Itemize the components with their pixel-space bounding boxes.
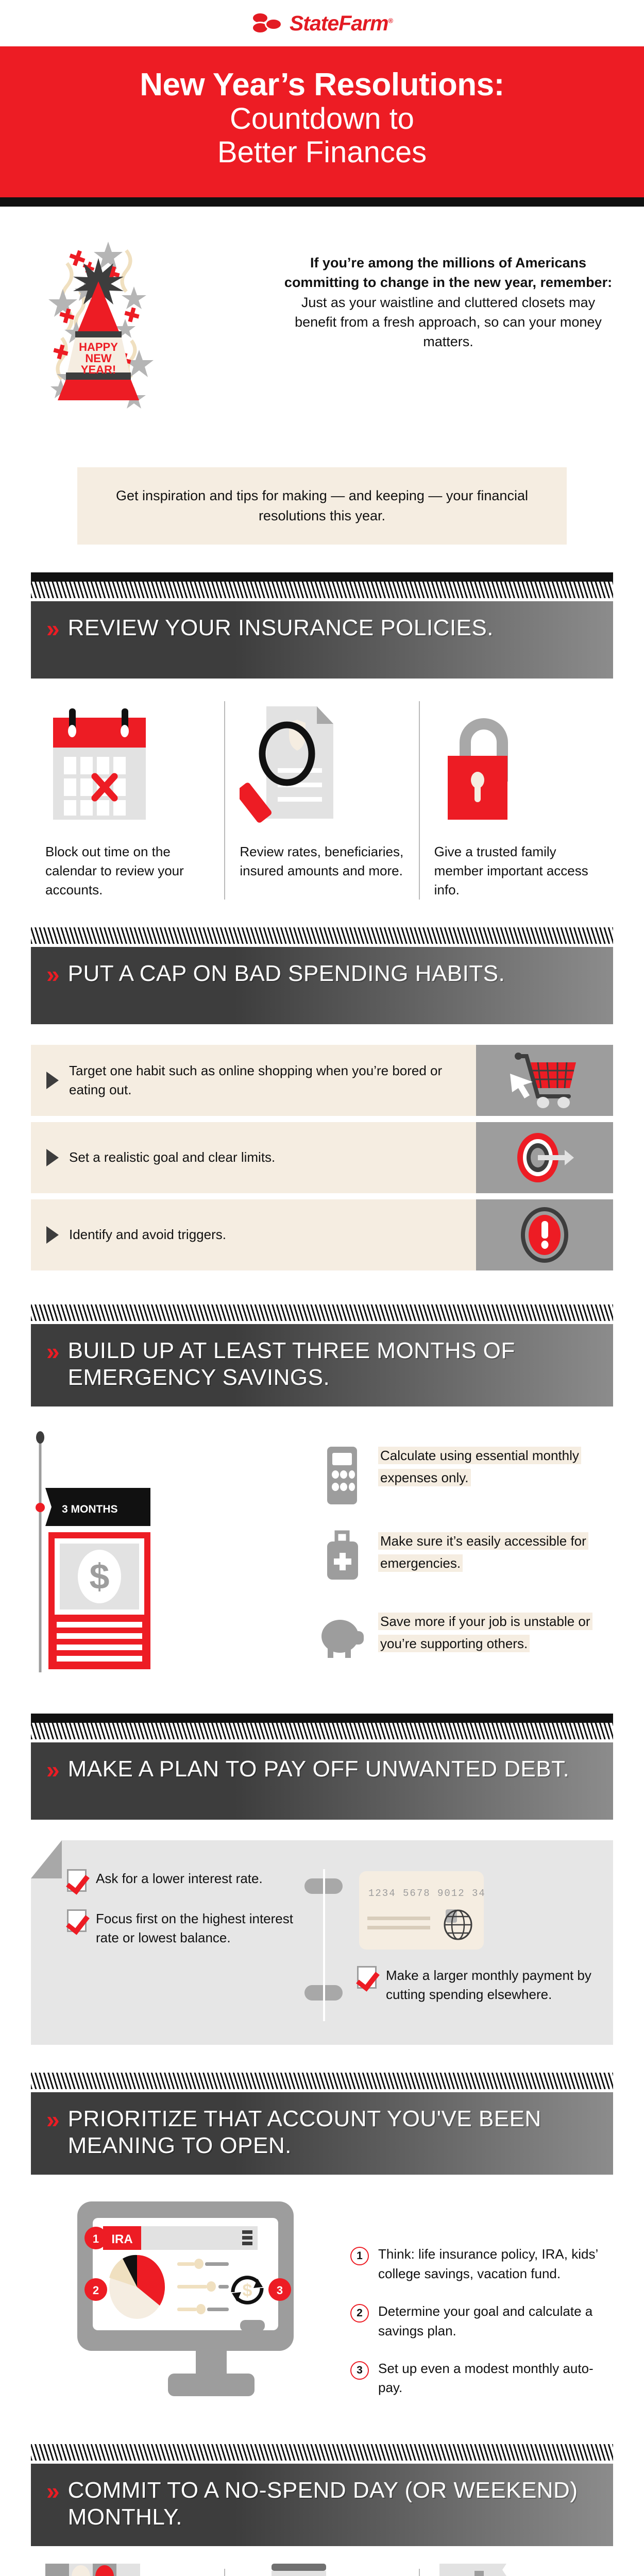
section-title: BUILD UP AT LEAST THREE MONTHS OF EMERGE…	[68, 1337, 598, 1391]
checkerboard-icon	[45, 2569, 164, 2576]
section-header-emergency-savings: » BUILD UP AT LEAST THREE MONTHS OF EMER…	[31, 1324, 613, 1406]
hatch-divider	[31, 582, 613, 598]
magnifier-doc-icon	[240, 701, 348, 825]
section-review-insurance: » REVIEW YOUR INSURANCE POLICIES.	[0, 572, 644, 679]
chevron-icon: »	[46, 2106, 57, 2131]
section-emergency-savings: » BUILD UP AT LEAST THREE MONTHS OF EMER…	[0, 1304, 644, 1406]
column-crafts-projects: Make time for crafts, organization or ho…	[419, 2569, 613, 2576]
timeline-label: 3 MONTHS	[62, 1503, 118, 1515]
emergency-savings-body: 3 MONTHS $	[0, 1406, 644, 1686]
checkbox-checked-icon[interactable]	[67, 1869, 87, 1892]
debt-checklist-item: Focus first on the highest interest rate…	[67, 1909, 302, 1947]
triangle-bullet-icon	[46, 1072, 59, 1089]
debt-checklist-item: Make a larger monthly payment by cutting…	[357, 1966, 592, 2004]
credit-card-illustration: 1234 5678 9012 3456	[357, 1869, 592, 1952]
column-fun-and-free: Make a “fun and free” entertainment list…	[31, 2569, 224, 2576]
habit-row-text: Set a realistic goal and clear limits.	[31, 1122, 476, 1193]
black-divider-rule	[0, 197, 644, 207]
step-number-badge: 2	[350, 2304, 369, 2323]
monitor-illustration: IRA	[31, 2198, 340, 2416]
column-caption: Review rates, beneficiaries, insured amo…	[240, 842, 404, 880]
registered-mark: ®	[388, 16, 393, 24]
column-block-out-time: Block out time on the calendar to review…	[31, 701, 224, 900]
screen-marker-3: 3	[277, 2284, 283, 2297]
account-step: 1 Think: life insurance policy, IRA, kid…	[350, 2245, 613, 2283]
chevron-icon: »	[46, 2477, 57, 2503]
hatch-divider	[31, 927, 613, 944]
section-header-spending-habits: » PUT A CAP ON BAD SPENDING HABITS.	[31, 947, 613, 1024]
piggy-bank-icon	[319, 1611, 366, 1662]
savings-tips-list: Calculate using essential monthly expens…	[319, 1430, 613, 1686]
savings-tip-text: Calculate using essential monthly expens…	[378, 1447, 581, 1486]
auto-pay-dollar-symbol: $	[243, 2281, 252, 2300]
savings-tip-text: Make sure it’s easily accessible for eme…	[378, 1532, 588, 1572]
intro-bold: If you’re among the millions of American…	[284, 255, 612, 290]
habit-row-text: Target one habit such as online shopping…	[31, 1045, 476, 1116]
debt-paper-card: Ask for a lower interest rate. Focus fir…	[31, 1840, 613, 2045]
triangle-bullet-icon	[46, 1226, 59, 1244]
page-fold-corner	[31, 1840, 62, 1878]
debt-column-right: 1234 5678 9012 3456	[323, 1869, 592, 2022]
savings-tip: Make sure it’s easily accessible for eme…	[319, 1530, 613, 1587]
state-farm-logo: StateFarm®	[251, 11, 393, 36]
hat-text-line-3: YEAR!	[81, 363, 116, 376]
section-top-black-rule	[31, 572, 613, 582]
intro-callout-box: Get inspiration and tips for making — an…	[77, 467, 567, 545]
hatch-divider	[31, 2073, 613, 2089]
section-header-pay-off-debt: » MAKE A PLAN TO PAY OFF UNWANTED DEBT.	[31, 1742, 613, 1820]
chevron-icon: »	[46, 1337, 57, 1363]
debt-item-text: Focus first on the highest interest rate…	[96, 1909, 302, 1947]
brand-header: StateFarm®	[0, 0, 644, 46]
section-header-open-account: » PRIORITIZE THAT ACCOUNT YOU'VE BEEN ME…	[31, 2092, 613, 2175]
food-can-icon	[240, 2569, 358, 2576]
section-pay-off-debt: » MAKE A PLAN TO PAY OFF UNWANTED DEBT.	[0, 1714, 644, 1820]
dollar-symbol: $	[90, 1556, 110, 1597]
column-review-rates: Review rates, beneficiaries, insured amo…	[224, 701, 418, 900]
habit-text: Target one habit such as online shopping…	[69, 1061, 461, 1099]
habit-text: Identify and avoid triggers.	[69, 1225, 226, 1244]
checkbox-checked-icon[interactable]	[67, 1909, 87, 1932]
review-insurance-columns: Block out time on the calendar to review…	[0, 679, 644, 900]
title-banner: New Year’s Resolutions: Countdown to Bet…	[0, 46, 644, 197]
open-account-steps: 1 Think: life insurance policy, IRA, kid…	[340, 2198, 613, 2416]
intro-paragraph: If you’re among the millions of American…	[283, 227, 613, 352]
no-spend-columns: Make a “fun and free” entertainment list…	[0, 2546, 644, 2576]
alert-exclamation-icon	[476, 1199, 613, 1270]
hatch-divider	[31, 2444, 613, 2461]
calculator-icon	[319, 1445, 366, 1506]
section-header-review-insurance: » REVIEW YOUR INSURANCE POLICIES.	[31, 601, 613, 679]
hatch-divider	[31, 1304, 613, 1321]
title-line-2: Countdown to	[31, 103, 613, 136]
chevron-icon: »	[46, 615, 57, 640]
section-title: MAKE A PLAN TO PAY OFF UNWANTED DEBT.	[68, 1756, 570, 1783]
checkbox-checked-icon[interactable]	[357, 1966, 377, 1989]
savings-tip-text: Save more if your job is unstable or you…	[378, 1613, 592, 1652]
section-top-black-rule	[31, 1714, 613, 1723]
section-title: REVIEW YOUR INSURANCE POLICIES.	[68, 615, 494, 641]
chevron-icon: »	[46, 960, 57, 986]
account-step: 3 Set up even a modest monthly auto-pay.	[350, 2359, 613, 2398]
habit-row: Target one habit such as online shopping…	[31, 1045, 613, 1116]
hatch-divider	[31, 1723, 613, 1739]
step-number-badge: 1	[350, 2247, 369, 2265]
account-step-text: Determine your goal and calculate a savi…	[378, 2302, 613, 2341]
column-use-up-food: Use up food in your freezer or pantry.	[224, 2569, 418, 2576]
title-line-1: New Year’s Resolutions:	[31, 68, 613, 103]
screen-marker-1: 1	[93, 2232, 99, 2245]
open-account-body: IRA	[0, 2175, 644, 2416]
habit-row: Identify and avoid triggers.	[31, 1199, 613, 1270]
section-title: PUT A CAP ON BAD SPENDING HABITS.	[68, 960, 505, 987]
calendar-icon	[45, 701, 154, 825]
column-caption: Give a trusted family member important a…	[434, 842, 599, 900]
open-padlock-icon	[434, 701, 543, 825]
first-aid-kit-icon	[319, 1530, 366, 1587]
section-no-spend-day: » COMMIT TO A NO-SPEND DAY (OR WEEKEND) …	[0, 2444, 644, 2546]
chevron-icon: »	[46, 1756, 57, 1782]
habit-row-text: Identify and avoid triggers.	[31, 1199, 476, 1270]
ira-badge-label: IRA	[111, 2232, 132, 2246]
habit-text: Set a realistic goal and clear limits.	[69, 1148, 275, 1167]
triangle-bullet-icon	[46, 1149, 59, 1166]
shopping-cart-icon	[476, 1045, 613, 1116]
intro-section: HAPPY NEW YEAR! If you’re among the mill…	[0, 207, 644, 449]
credit-card-number: 1234 5678 9012 3456	[368, 1888, 486, 1899]
target-dart-icon	[476, 1122, 613, 1193]
section-spending-habits: » PUT A CAP ON BAD SPENDING HABITS.	[0, 927, 644, 1024]
debt-column-left: Ask for a lower interest rate. Focus fir…	[67, 1869, 323, 2022]
savings-tip: Save more if your job is unstable or you…	[319, 1611, 613, 1662]
debt-item-text: Make a larger monthly payment by cutting…	[386, 1966, 592, 2004]
party-hat-illustration: HAPPY NEW YEAR!	[31, 227, 273, 449]
intro-callout-text: Get inspiration and tips for making — an…	[116, 488, 528, 523]
section-header-no-spend-day: » COMMIT TO A NO-SPEND DAY (OR WEEKEND) …	[31, 2464, 613, 2546]
title-line-3: Better Finances	[31, 136, 613, 170]
section-title: COMMIT TO A NO-SPEND DAY (OR WEEKEND) MO…	[68, 2477, 598, 2531]
brand-wordmark: StateFarm®	[290, 11, 393, 36]
scissors-craft-icon	[434, 2569, 553, 2576]
state-farm-lozenges-icon	[251, 12, 284, 35]
account-step-text: Set up even a modest monthly auto-pay.	[378, 2359, 613, 2398]
section-title: PRIORITIZE THAT ACCOUNT YOU'VE BEEN MEAN…	[68, 2106, 598, 2159]
column-caption: Block out time on the calendar to review…	[45, 842, 210, 900]
debt-checklist-item: Ask for a lower interest rate.	[67, 1869, 302, 1892]
step-number-badge: 3	[350, 2361, 369, 2380]
spending-habits-rows: Target one habit such as online shopping…	[0, 1024, 644, 1270]
savings-timeline-illustration: 3 MONTHS $	[31, 1430, 319, 1686]
infographic-page: StateFarm® New Year’s Resolutions: Count…	[0, 0, 644, 2576]
habit-row: Set a realistic goal and clear limits.	[31, 1122, 613, 1193]
savings-tip: Calculate using essential monthly expens…	[319, 1445, 613, 1506]
account-step-text: Think: life insurance policy, IRA, kids’…	[378, 2245, 613, 2283]
screen-marker-2: 2	[93, 2284, 99, 2297]
column-trusted-family: Give a trusted family member important a…	[419, 701, 613, 900]
debt-body: Ask for a lower interest rate. Focus fir…	[0, 1820, 644, 2045]
debt-item-text: Ask for a lower interest rate.	[96, 1869, 263, 1892]
section-open-account: » PRIORITIZE THAT ACCOUNT YOU'VE BEEN ME…	[0, 2073, 644, 2175]
intro-soft: Just as your waistline and cluttered clo…	[295, 295, 602, 350]
account-step: 2 Determine your goal and calculate a sa…	[350, 2302, 613, 2341]
